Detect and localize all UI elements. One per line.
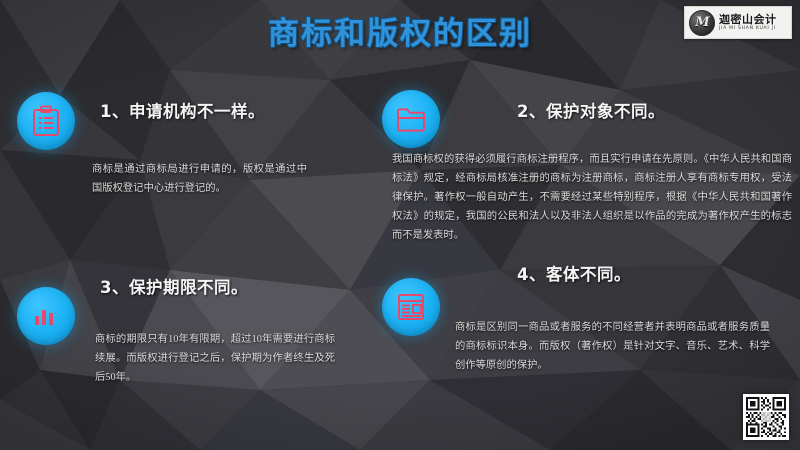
bar-chart-icon — [17, 287, 75, 345]
block-body: 商标是区别同一商品或者服务的不同经营者并表明商品或者服务质量的商标标识本身。而版… — [455, 318, 770, 375]
clipboard-checklist-icon — [17, 92, 75, 150]
logo-text: 迦密山会计 JIA MI SHAN KUAI JI — [719, 14, 777, 32]
block-title: 3、保护期限不同。 — [100, 274, 248, 298]
brand-logo: M 迦密山会计 JIA MI SHAN KUAI JI — [684, 6, 792, 39]
block-body: 商标是通过商标局进行申请的，版权是通过中国版权登记中心进行登记的。 — [92, 160, 307, 198]
slide-canvas: 商标和版权的区别 M 迦密山会计 JIA MI SHAN KUAI JI — [0, 0, 800, 450]
block-body: 我国商标权的获得必须履行商标注册程序，而且实行申请在先原则。《中华人民共和国商标… — [392, 150, 792, 245]
page-title: 商标和版权的区别 — [0, 8, 800, 53]
logo-name-pinyin: JIA MI SHAN KUAI JI — [719, 27, 777, 32]
header: 商标和版权的区别 M 迦密山会计 JIA MI SHAN KUAI JI — [0, 0, 800, 64]
logo-name-cn: 迦密山会计 — [719, 14, 777, 25]
qr-code[interactable] — [743, 394, 789, 440]
block-title: 2、保护对象不同。 — [517, 98, 665, 122]
folder-icon — [382, 90, 440, 148]
document-article-icon — [382, 278, 440, 336]
logo-emblem-icon: M — [689, 10, 715, 36]
block-title: 4、客体不同。 — [517, 261, 631, 285]
block-title: 1、申请机构不一样。 — [100, 98, 265, 122]
block-body: 商标的期限只有10年有限期，超过10年需要进行商标续展。而版权进行登记之后，保护… — [95, 330, 335, 387]
logo-monogram: M — [695, 16, 708, 29]
